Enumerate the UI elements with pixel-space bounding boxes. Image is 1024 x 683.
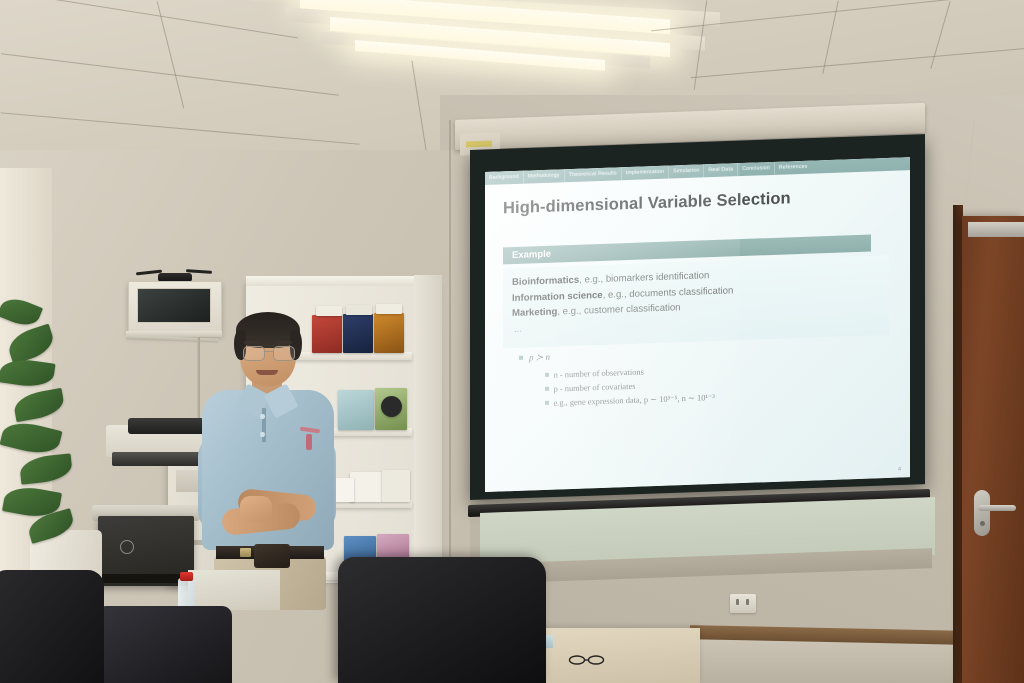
example-line-1-term: Bioinformatics [512, 275, 579, 288]
projector-screen[interactable]: Background Methodology Theoretical Resul… [485, 157, 910, 492]
example-line-3-term: Marketing [512, 306, 557, 319]
shirt-button [260, 432, 265, 437]
presenter-mouth [256, 370, 278, 375]
journal-cover [346, 305, 372, 315]
journal-cover [374, 313, 404, 353]
document-sheet [382, 470, 410, 502]
presenter-eyebrow-right [276, 341, 292, 344]
nav-item-real-data[interactable]: Real Data [704, 163, 738, 177]
slide-page-number: 4 [898, 466, 901, 472]
nav-item-references[interactable]: References [775, 161, 812, 175]
shelf-side-panel [414, 275, 442, 585]
door-handle[interactable] [978, 505, 1016, 511]
document-sheet [350, 472, 382, 502]
bullet-square-icon [545, 373, 549, 377]
presentation-slide: Background Methodology Theoretical Resul… [485, 157, 910, 492]
nav-item-implementation[interactable]: Implementation [622, 166, 669, 181]
presenter-belt-pouch [254, 544, 290, 568]
office-chair-front[interactable] [338, 557, 546, 683]
nav-item-theoretical-results[interactable]: Theoretical Results [565, 167, 622, 182]
presenter-eyebrow-left [244, 341, 260, 344]
wall-socket[interactable] [730, 594, 756, 613]
foreground-panel [188, 570, 280, 610]
sub-bullet-2-text: p - number of covariates [554, 382, 636, 394]
document-sheet [334, 478, 354, 502]
floor [690, 640, 970, 683]
pen-clip [306, 434, 312, 450]
example-line-2-term: Information science [512, 289, 603, 303]
office-chair-middle[interactable] [96, 606, 232, 683]
shirt-button [260, 414, 265, 419]
door-keyhole [980, 521, 985, 526]
journal-cover [338, 390, 374, 430]
door-lock-plate [974, 490, 990, 536]
bullet-square-icon [545, 387, 549, 391]
door[interactable] [962, 216, 1024, 683]
example-line-1-rest: , e.g., biomarkers identification [579, 270, 709, 286]
shelf-top-panel [246, 276, 442, 286]
nav-item-background[interactable]: Background [485, 171, 524, 185]
office-chair-left[interactable] [0, 570, 104, 683]
hp-logo-icon [120, 540, 134, 554]
sub-bullet-3: e.g., gene expression data, p ∼ 10³⁻⁵, n… [545, 392, 715, 408]
bullet-square-icon [545, 401, 549, 405]
photo-scene: Background Methodology Theoretical Resul… [0, 0, 1024, 683]
screen-housing-label [466, 141, 492, 148]
bullet-main: p ≻ n [519, 352, 550, 364]
slide-title: High-dimensional Variable Selection [503, 189, 791, 218]
presenter-hands [240, 496, 272, 522]
sub-bullet-2: p - number of covariates [545, 381, 635, 394]
eyeglasses-lens-left [243, 346, 265, 361]
nav-item-simulation[interactable]: Simulation [669, 164, 704, 178]
sub-bullet-1: n - number of observations [545, 366, 644, 379]
nav-item-conclusion[interactable]: Conclusion [738, 162, 775, 176]
example-block-title: Example [503, 249, 551, 262]
example-line-2-rest: , e.g., documents classification [603, 285, 734, 301]
sub-bullet-1-text: n - number of observations [554, 367, 644, 379]
journal-cover [376, 304, 402, 314]
presenter-belt-buckle [240, 548, 251, 557]
eyeglasses-bridge [264, 351, 273, 352]
bullet-square-icon [519, 356, 523, 360]
door-transom [968, 222, 1024, 237]
example-block-body: Bioinformatics, e.g., biomarkers identif… [503, 255, 889, 348]
example-line-3-rest: , e.g., customer classification [557, 302, 680, 317]
presenter [196, 310, 336, 600]
eyeglasses-lens-right [273, 346, 295, 361]
sub-bullet-3-text: e.g., gene expression data, p ∼ 10³⁻⁵, n… [554, 393, 715, 408]
journal-cover [343, 314, 373, 353]
nav-item-methodology[interactable]: Methodology [524, 169, 565, 183]
bullet-main-text: p ≻ n [529, 352, 550, 363]
bottle-cap-left [180, 572, 193, 581]
journal-cover-circle [381, 396, 402, 417]
eyeglasses-on-desk [568, 655, 608, 665]
